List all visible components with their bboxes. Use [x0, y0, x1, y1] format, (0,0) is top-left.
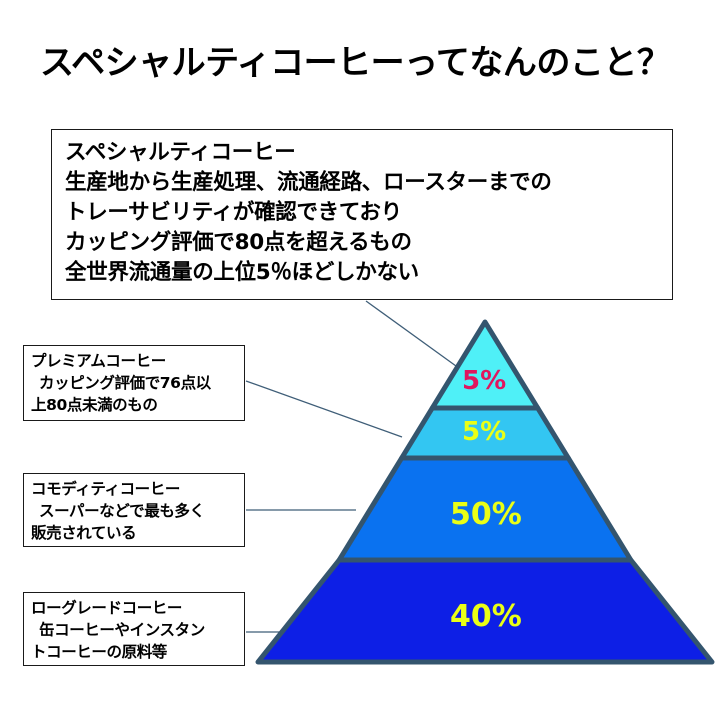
- pyramid-tier-premium[interactable]: [402, 408, 569, 458]
- connector-line-specialty: [366, 301, 456, 366]
- pyramid-tiers: [258, 322, 712, 662]
- connector-line-premium: [246, 381, 402, 437]
- pyramid-tier-specialty[interactable]: [432, 322, 537, 408]
- pyramid-tier-low-grade[interactable]: [258, 560, 712, 662]
- pyramid-tier-commodity[interactable]: [339, 458, 631, 560]
- pyramid-chart: [0, 0, 720, 720]
